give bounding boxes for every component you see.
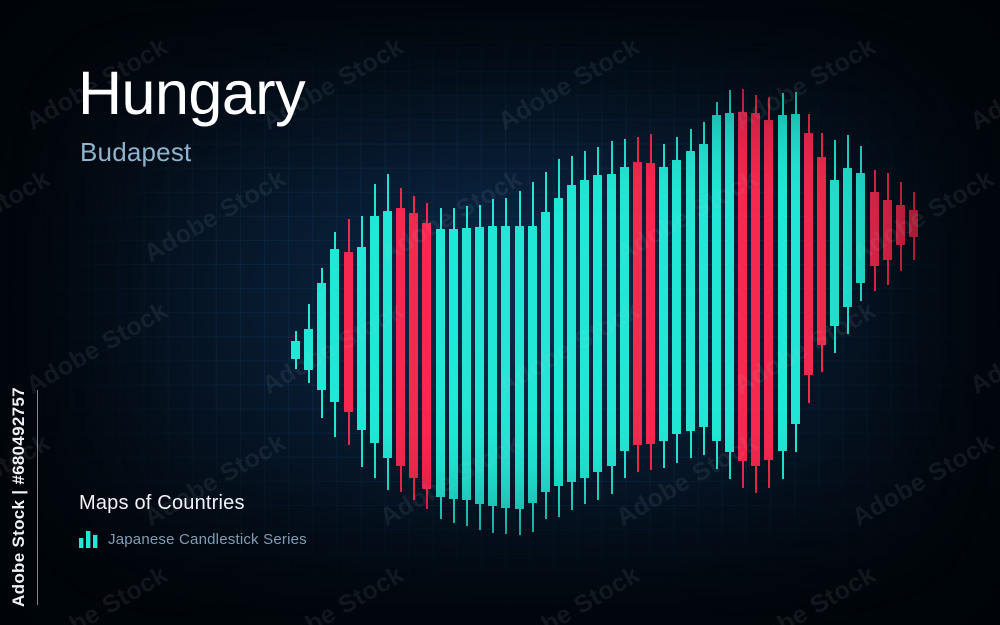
series-title: Maps of Countries (79, 492, 245, 515)
series-subtitle: Japanese Candlestick Series (108, 531, 307, 548)
poster-canvas: Adobe StockAdobe StockAdobe StockAdobe S… (0, 0, 1000, 625)
page-title: Hungary (78, 63, 305, 124)
stock-credit-sidebar: Adobe Stock | #680492757 (0, 0, 38, 625)
capital-subtitle: Budapest (80, 139, 191, 165)
sidebar-divider (37, 390, 38, 605)
series-legend: Japanese Candlestick Series (79, 531, 307, 548)
stock-credit-text: Adobe Stock | #680492757 (9, 382, 29, 612)
bar-chart-icon (79, 531, 98, 548)
